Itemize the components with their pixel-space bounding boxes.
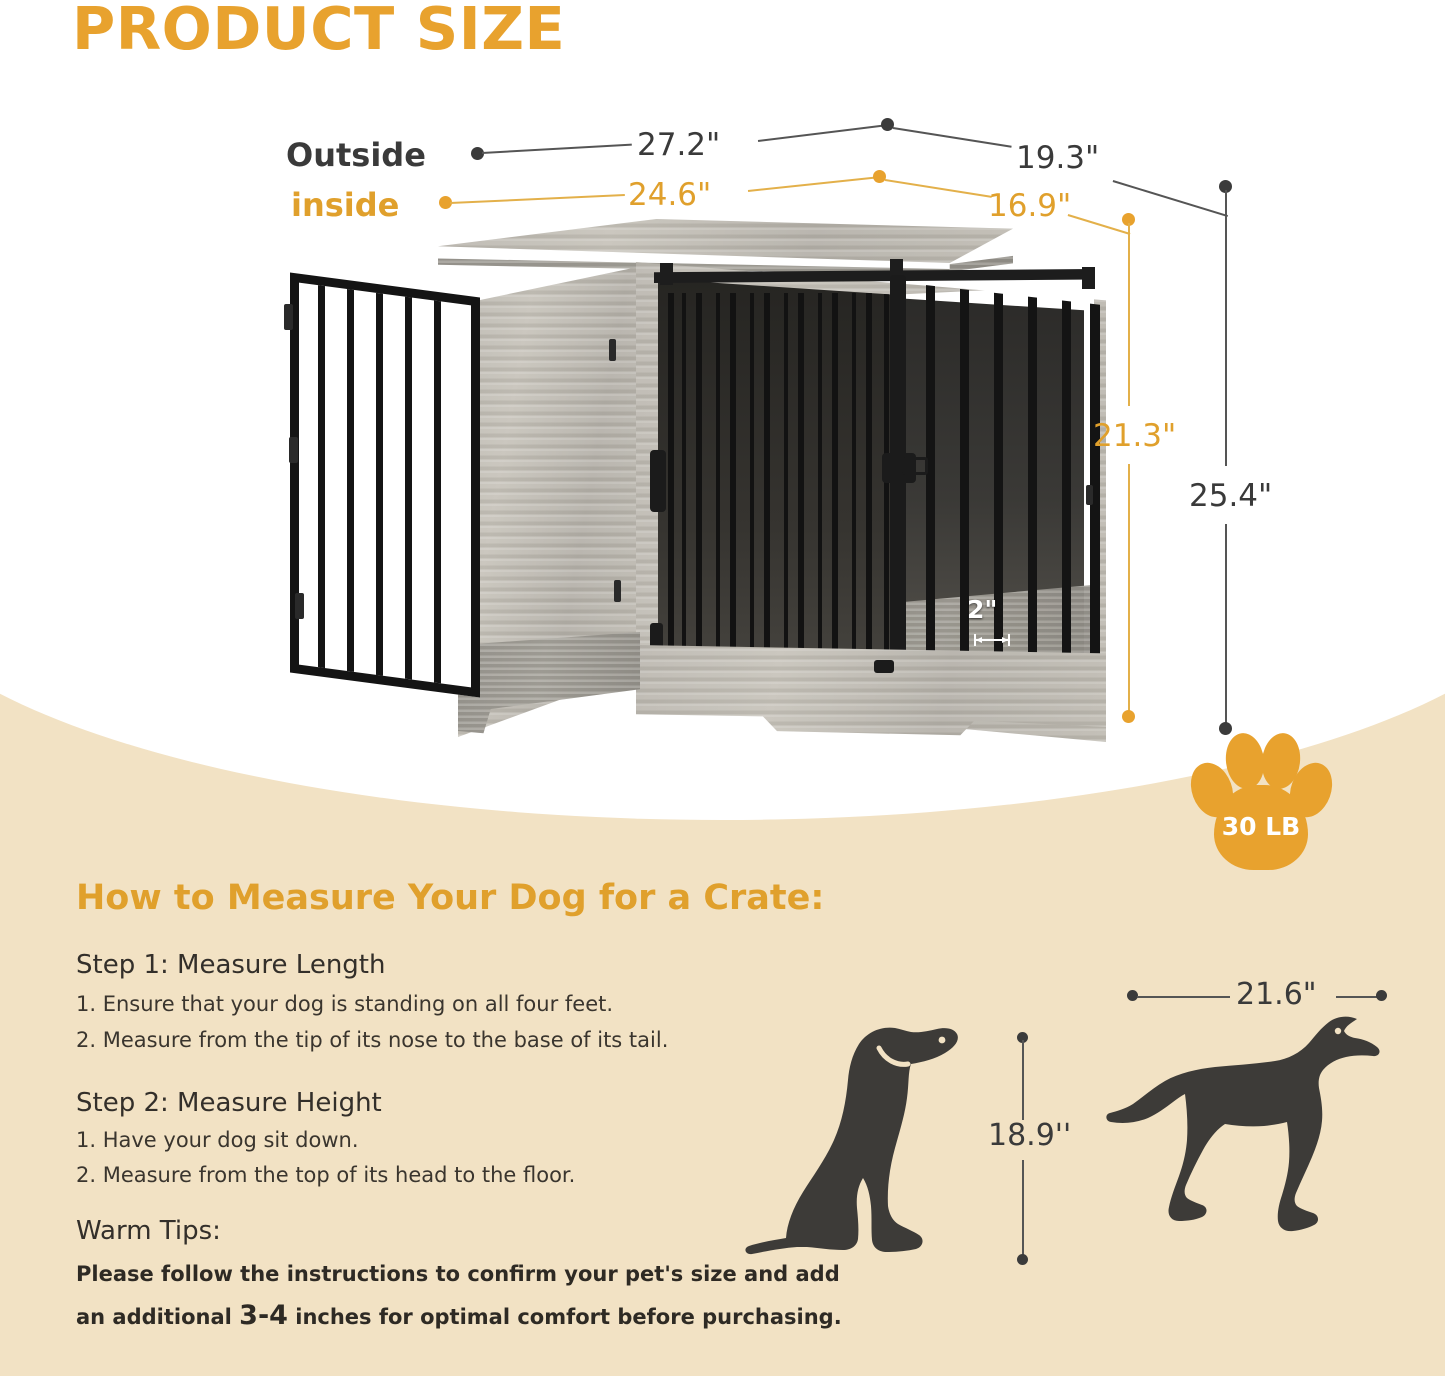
step2-line-1: 1. Have your dog sit down. [76, 1128, 359, 1152]
inside-height-bottom-dot [1122, 710, 1135, 723]
inside-height-value: 21.3" [1093, 418, 1176, 454]
inside-depth-leader-left [885, 179, 992, 197]
step2-line-2: 2. Measure from the top of its head to t… [76, 1163, 575, 1187]
dog-height-value: 18.9'' [988, 1118, 1071, 1153]
sitting-dog-silhouette [745, 1010, 975, 1278]
dog-height-bottom-dot [1017, 1254, 1028, 1265]
inside-depth-value: 16.9" [988, 188, 1071, 224]
legend-outside-label: Outside [286, 136, 426, 174]
sliding-door-handle[interactable] [650, 450, 666, 512]
weight-capacity-badge: 30 LB [1192, 730, 1330, 870]
dog-crate-illustration: 2" [262, 205, 1102, 755]
outside-depth-leader-left [893, 127, 1012, 147]
door-hinge-middle [289, 437, 298, 463]
sliding-door-panel[interactable] [658, 279, 898, 677]
sliding-door-bars [666, 293, 892, 667]
page-title: PRODUCT SIZE [72, 0, 565, 63]
inside-height-line-lower [1128, 464, 1130, 714]
inside-height-line-upper [1128, 223, 1130, 406]
warm-tips-line2-after: inches for optimal comfort before purcha… [288, 1305, 842, 1329]
legend-inside-label: inside [291, 186, 399, 224]
step1-line-1: 1. Ensure that your dog is standing on a… [76, 992, 613, 1016]
step2-heading: Step 2: Measure Height [76, 1088, 382, 1118]
crate-base-left [458, 632, 640, 742]
dog-height-line-upper [1022, 1040, 1024, 1120]
outside-width-leader-left [482, 144, 632, 154]
outside-height-value: 25.4" [1189, 478, 1272, 514]
outside-depth-leader-right [1113, 180, 1228, 217]
step1-heading: Step 1: Measure Length [76, 950, 385, 980]
bar-spacing-label: 2" [967, 595, 997, 624]
guide-title: How to Measure Your Dog for a Crate: [76, 878, 824, 918]
dog-length-value: 21.6" [1236, 977, 1317, 1012]
outside-width-value: 27.2" [637, 127, 720, 163]
right-frame-hinge [1086, 485, 1093, 505]
warm-tips-emphasis: 3-4 [239, 1300, 288, 1331]
warm-tips-line2-before: an additional [76, 1305, 239, 1329]
dog-height-line-lower [1022, 1160, 1024, 1258]
dog-length-line-right [1336, 996, 1380, 998]
inside-corner-dot [873, 170, 886, 183]
latch-loop[interactable] [902, 457, 928, 475]
step1-line-2: 2. Measure from the tip of its nose to t… [76, 1028, 668, 1052]
bar-spacing-arrow-icon [973, 633, 1011, 647]
warm-tips-line-1: Please follow the instructions to confir… [76, 1262, 840, 1286]
frame-hinge-bottom [614, 580, 621, 602]
outside-height-line-upper [1225, 190, 1227, 466]
door-hinge-bottom [295, 593, 304, 619]
door-hinge-top [284, 304, 293, 330]
inside-width-leader-left [450, 194, 625, 204]
crate-top-surface [438, 219, 1013, 263]
outside-corner-dot [881, 118, 894, 131]
frame-hinge-top [609, 339, 616, 361]
rail-bracket-left [660, 263, 673, 285]
warm-tips-line-2: an additional 3-4 inches for optimal com… [76, 1300, 842, 1331]
open-crate-door[interactable] [290, 272, 480, 697]
dog-length-line-left [1137, 996, 1230, 998]
inside-width-leader-right [748, 176, 878, 191]
outside-width-leader-right [758, 124, 888, 142]
standing-dog-silhouette [1105, 1005, 1385, 1250]
base-center-bracket [874, 660, 894, 673]
weight-capacity-label: 30 LB [1214, 812, 1308, 841]
outside-height-line-lower [1225, 524, 1227, 726]
dog-length-right-dot [1376, 990, 1387, 1001]
rail-bracket-right [1082, 267, 1095, 289]
outside-depth-value: 19.3" [1016, 140, 1099, 176]
inside-width-value: 24.6" [628, 177, 711, 213]
warm-tips-heading: Warm Tips: [76, 1216, 221, 1246]
